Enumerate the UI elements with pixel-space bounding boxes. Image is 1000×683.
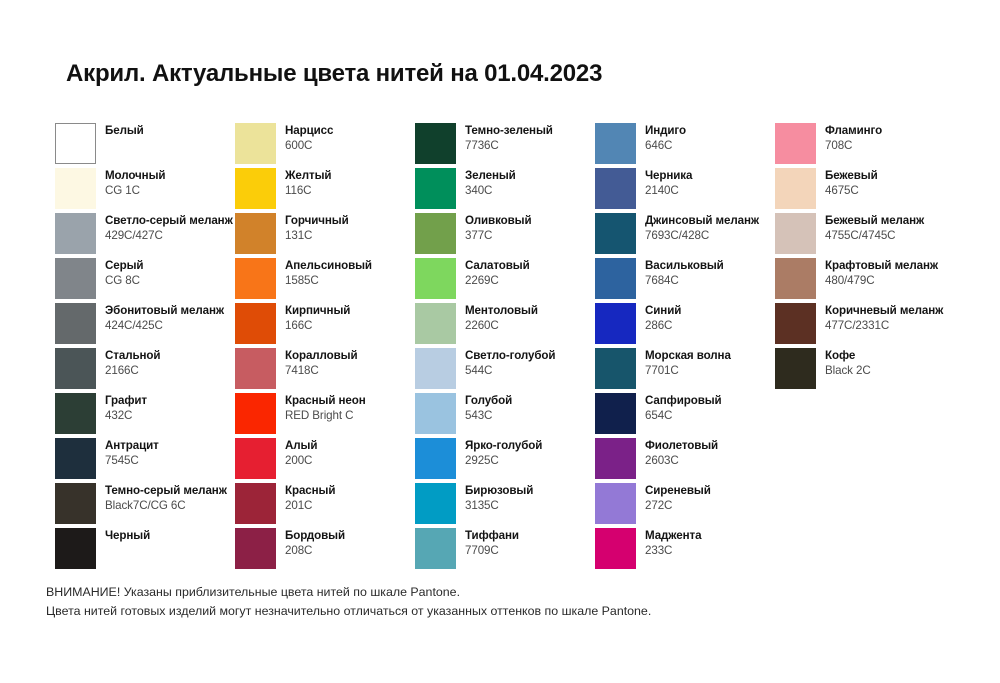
color-name: Сапфировый [645, 394, 722, 409]
color-code: 201C [285, 499, 335, 514]
color-row[interactable]: Белый [55, 123, 235, 168]
color-labels: Зеленый340C [465, 168, 516, 198]
color-labels: Антрацит7545C [105, 438, 159, 468]
color-labels: Бордовый208C [285, 528, 345, 558]
color-swatch[interactable] [415, 303, 456, 344]
color-row[interactable]: Фламинго708C [775, 123, 975, 168]
color-name: Молочный [105, 169, 165, 184]
color-swatch[interactable] [235, 168, 276, 209]
color-row[interactable]: Салатовый2269C [415, 258, 595, 303]
color-chart-page: Акрил. Актуальные цвета нитей на 01.04.2… [0, 0, 1000, 683]
color-labels: Черный [105, 528, 150, 544]
color-code: 340C [465, 184, 516, 199]
color-swatch[interactable] [595, 123, 636, 164]
color-row[interactable]: Кирпичный166C [235, 303, 415, 348]
color-swatch[interactable] [235, 348, 276, 389]
color-swatch[interactable] [235, 393, 276, 434]
color-swatch[interactable] [55, 528, 96, 569]
color-code: 708C [825, 139, 882, 154]
color-code: 477C/2331C [825, 319, 943, 334]
color-labels: Синий286C [645, 303, 681, 333]
color-swatch[interactable] [595, 438, 636, 479]
color-labels: Индиго646C [645, 123, 686, 153]
color-row[interactable]: Маджента233C [595, 528, 775, 573]
color-name: Кофе [825, 349, 871, 364]
color-row[interactable]: Зеленый340C [415, 168, 595, 213]
color-code: 2166C [105, 364, 160, 379]
color-code: 116C [285, 184, 331, 199]
color-name: Васильковый [645, 259, 724, 274]
color-code: 600C [285, 139, 333, 154]
color-swatch[interactable] [415, 348, 456, 389]
color-name: Светло-голубой [465, 349, 555, 364]
color-labels: Горчичный131C [285, 213, 349, 243]
color-row[interactable]: Бирюзовый3135C [415, 483, 595, 528]
color-name: Горчичный [285, 214, 349, 229]
color-row[interactable]: КофеBlack 2C [775, 348, 975, 393]
color-name: Маджента [645, 529, 701, 544]
page-title: Акрил. Актуальные цвета нитей на 01.04.2… [66, 60, 602, 88]
color-name: Коралловый [285, 349, 358, 364]
color-row[interactable]: Бежевый меланж4755C/4745C [775, 213, 975, 258]
color-swatch[interactable] [415, 213, 456, 254]
footer-line-2: Цвета нитей готовых изделий могут незнач… [46, 602, 651, 621]
color-code: 424C/425C [105, 319, 224, 334]
color-code: 131C [285, 229, 349, 244]
color-swatch[interactable] [775, 168, 816, 209]
color-name: Антрацит [105, 439, 159, 454]
color-labels: Тиффани7709C [465, 528, 519, 558]
color-name: Кирпичный [285, 304, 350, 319]
color-name: Индиго [645, 124, 686, 139]
color-labels: Светло-серый меланж429C/427C [105, 213, 233, 243]
color-swatch[interactable] [415, 123, 456, 164]
color-row[interactable]: Сапфировый654C [595, 393, 775, 438]
color-labels: МолочныйCG 1C [105, 168, 165, 198]
color-name: Крафтовый меланж [825, 259, 938, 274]
color-name: Джинсовый меланж [645, 214, 759, 229]
color-name: Нарцисс [285, 124, 333, 139]
color-swatch[interactable] [595, 258, 636, 299]
color-row[interactable]: Черника2140C [595, 168, 775, 213]
color-swatch[interactable] [55, 258, 96, 299]
color-labels: Голубой543C [465, 393, 512, 423]
color-labels: Белый [105, 123, 144, 139]
color-code: 432C [105, 409, 147, 424]
color-code: RED Bright C [285, 409, 366, 424]
color-row[interactable]: Сиреневый272C [595, 483, 775, 528]
color-swatch[interactable] [775, 348, 816, 389]
color-labels: Черника2140C [645, 168, 692, 198]
color-columns: БелыйМолочныйCG 1CСветло-серый меланж429… [55, 123, 975, 573]
color-row[interactable]: Морская волна7701C [595, 348, 775, 393]
color-name: Графит [105, 394, 147, 409]
color-labels: Коралловый7418C [285, 348, 358, 378]
color-labels: Маджента233C [645, 528, 701, 558]
color-row[interactable]: Графит432C [55, 393, 235, 438]
color-swatch[interactable] [595, 213, 636, 254]
color-name: Стальной [105, 349, 160, 364]
color-swatch[interactable] [415, 393, 456, 434]
color-code: 1585C [285, 274, 372, 289]
color-code: 429C/427C [105, 229, 233, 244]
column-blue-violet: Индиго646CЧерника2140CДжинсовый меланж76… [595, 123, 775, 573]
color-swatch[interactable] [55, 393, 96, 434]
color-row[interactable]: Темно-серый меланжBlack7C/CG 6C [55, 483, 235, 528]
color-code: 543C [465, 409, 512, 424]
color-name: Красный неон [285, 394, 366, 409]
color-code: 480/479C [825, 274, 938, 289]
color-row[interactable]: Черный [55, 528, 235, 573]
color-row[interactable]: Ментоловый2260C [415, 303, 595, 348]
color-code: 7693C/428C [645, 229, 759, 244]
color-labels: Красный неонRED Bright C [285, 393, 366, 423]
color-labels: Фламинго708C [825, 123, 882, 153]
color-name: Тиффани [465, 529, 519, 544]
color-swatch[interactable] [235, 438, 276, 479]
color-name: Серый [105, 259, 143, 274]
color-row[interactable]: Индиго646C [595, 123, 775, 168]
color-swatch[interactable] [235, 258, 276, 299]
color-swatch[interactable] [775, 303, 816, 344]
color-name: Апельсиновый [285, 259, 372, 274]
color-swatch[interactable] [235, 303, 276, 344]
color-swatch[interactable] [55, 303, 96, 344]
color-labels: Алый200C [285, 438, 317, 468]
color-code: 2260C [465, 319, 538, 334]
color-swatch[interactable] [595, 168, 636, 209]
color-labels: Желтый116C [285, 168, 331, 198]
color-row[interactable]: Васильковый7684C [595, 258, 775, 303]
color-labels: Фиолетовый2603C [645, 438, 718, 468]
color-name: Сиреневый [645, 484, 711, 499]
color-row[interactable]: Джинсовый меланж7693C/428C [595, 213, 775, 258]
color-labels: СерыйCG 8C [105, 258, 143, 288]
color-code: 272C [645, 499, 711, 514]
color-swatch[interactable] [775, 123, 816, 164]
color-row[interactable]: Алый200C [235, 438, 415, 483]
color-labels: Графит432C [105, 393, 147, 423]
color-name: Оливковый [465, 214, 531, 229]
color-labels: Коричневый меланж477C/2331C [825, 303, 943, 333]
color-code: 286C [645, 319, 681, 334]
color-code: 2925C [465, 454, 542, 469]
color-labels: Васильковый7684C [645, 258, 724, 288]
color-code: 2140C [645, 184, 692, 199]
color-swatch[interactable] [55, 123, 96, 164]
color-swatch[interactable] [595, 348, 636, 389]
color-name: Морская волна [645, 349, 731, 364]
color-swatch[interactable] [415, 483, 456, 524]
color-code: Black7C/CG 6C [105, 499, 227, 514]
color-swatch[interactable] [55, 213, 96, 254]
color-row[interactable]: Голубой543C [415, 393, 595, 438]
color-labels: Ярко-голубой2925C [465, 438, 542, 468]
color-code: 2269C [465, 274, 530, 289]
color-name: Темно-зеленый [465, 124, 553, 139]
color-labels: Стальной2166C [105, 348, 160, 378]
color-name: Эбонитовый меланж [105, 304, 224, 319]
color-name: Бирюзовый [465, 484, 533, 499]
color-name: Белый [105, 124, 144, 139]
color-code: 4675C [825, 184, 878, 199]
color-row[interactable]: Крафтовый меланж480/479C [775, 258, 975, 303]
color-swatch[interactable] [595, 483, 636, 524]
color-code: 7418C [285, 364, 358, 379]
color-code: 7545C [105, 454, 159, 469]
color-code: CG 1C [105, 184, 165, 199]
color-labels: Апельсиновый1585C [285, 258, 372, 288]
color-row[interactable]: Коралловый7418C [235, 348, 415, 393]
color-swatch[interactable] [235, 528, 276, 569]
color-name: Ярко-голубой [465, 439, 542, 454]
color-row[interactable]: Горчичный131C [235, 213, 415, 258]
column-pink-brown: Фламинго708CБежевый4675CБежевый меланж47… [775, 123, 975, 393]
column-green-blue: Темно-зеленый7736CЗеленый340CОливковый37… [415, 123, 595, 573]
footer-notice: ВНИМАНИЕ! Указаны приблизительные цвета … [46, 583, 651, 621]
color-code: 4755C/4745C [825, 229, 924, 244]
color-labels: Оливковый377C [465, 213, 531, 243]
color-swatch[interactable] [775, 258, 816, 299]
color-name: Темно-серый меланж [105, 484, 227, 499]
color-swatch[interactable] [775, 213, 816, 254]
color-swatch[interactable] [595, 528, 636, 569]
color-name: Желтый [285, 169, 331, 184]
color-swatch[interactable] [235, 213, 276, 254]
color-name: Бежевый меланж [825, 214, 924, 229]
color-code: 654C [645, 409, 722, 424]
color-row[interactable]: МолочныйCG 1C [55, 168, 235, 213]
column-warm: Нарцисс600CЖелтый116CГорчичный131CАпельс… [235, 123, 415, 573]
color-row[interactable]: Красный неонRED Bright C [235, 393, 415, 438]
color-swatch[interactable] [55, 348, 96, 389]
color-code: 7709C [465, 544, 519, 559]
color-labels: Кирпичный166C [285, 303, 350, 333]
color-code: 646C [645, 139, 686, 154]
color-row[interactable]: Стальной2166C [55, 348, 235, 393]
color-name: Светло-серый меланж [105, 214, 233, 229]
color-name: Фламинго [825, 124, 882, 139]
color-swatch[interactable] [55, 438, 96, 479]
color-row[interactable]: Фиолетовый2603C [595, 438, 775, 483]
color-swatch[interactable] [595, 393, 636, 434]
color-labels: Бирюзовый3135C [465, 483, 533, 513]
color-code: 2603C [645, 454, 718, 469]
color-code: 233C [645, 544, 701, 559]
color-labels: Сапфировый654C [645, 393, 722, 423]
color-row[interactable]: Апельсиновый1585C [235, 258, 415, 303]
color-code: 208C [285, 544, 345, 559]
color-swatch[interactable] [415, 168, 456, 209]
color-row[interactable]: Бежевый4675C [775, 168, 975, 213]
color-row[interactable]: Нарцисс600C [235, 123, 415, 168]
color-row[interactable]: Эбонитовый меланж424C/425C [55, 303, 235, 348]
color-row[interactable]: Темно-зеленый7736C [415, 123, 595, 168]
color-labels: Темно-серый меланжBlack7C/CG 6C [105, 483, 227, 513]
color-code: 7736C [465, 139, 553, 154]
color-name: Голубой [465, 394, 512, 409]
color-swatch[interactable] [235, 123, 276, 164]
footer-line-1: ВНИМАНИЕ! Указаны приблизительные цвета … [46, 583, 651, 602]
color-code: 200C [285, 454, 317, 469]
color-swatch[interactable] [415, 258, 456, 299]
color-row[interactable]: Тиффани7709C [415, 528, 595, 573]
color-swatch[interactable] [55, 483, 96, 524]
color-name: Красный [285, 484, 335, 499]
color-labels: Салатовый2269C [465, 258, 530, 288]
color-code: 166C [285, 319, 350, 334]
color-labels: Темно-зеленый7736C [465, 123, 553, 153]
color-code: CG 8C [105, 274, 143, 289]
color-swatch[interactable] [595, 303, 636, 344]
color-name: Черника [645, 169, 692, 184]
color-name: Салатовый [465, 259, 530, 274]
color-name: Бордовый [285, 529, 345, 544]
color-row[interactable]: Светло-голубой544C [415, 348, 595, 393]
color-code: 7701C [645, 364, 731, 379]
color-name: Коричневый меланж [825, 304, 943, 319]
color-code: 544C [465, 364, 555, 379]
color-labels: Ментоловый2260C [465, 303, 538, 333]
color-swatch[interactable] [235, 483, 276, 524]
color-swatch[interactable] [55, 168, 96, 209]
color-labels: Эбонитовый меланж424C/425C [105, 303, 224, 333]
color-labels: Светло-голубой544C [465, 348, 555, 378]
color-labels: Крафтовый меланж480/479C [825, 258, 938, 288]
color-name: Синий [645, 304, 681, 319]
color-name: Ментоловый [465, 304, 538, 319]
color-row[interactable]: Бордовый208C [235, 528, 415, 573]
color-swatch[interactable] [415, 438, 456, 479]
color-row[interactable]: Синий286C [595, 303, 775, 348]
color-row[interactable]: Желтый116C [235, 168, 415, 213]
color-name: Фиолетовый [645, 439, 718, 454]
color-code: 377C [465, 229, 531, 244]
color-row[interactable]: Коричневый меланж477C/2331C [775, 303, 975, 348]
color-code: 7684C [645, 274, 724, 289]
color-name: Алый [285, 439, 317, 454]
column-neutrals: БелыйМолочныйCG 1CСветло-серый меланж429… [55, 123, 235, 573]
color-row[interactable]: Оливковый377C [415, 213, 595, 258]
color-name: Зеленый [465, 169, 516, 184]
color-row[interactable]: Антрацит7545C [55, 438, 235, 483]
color-labels: Бежевый4675C [825, 168, 878, 198]
color-row[interactable]: Светло-серый меланж429C/427C [55, 213, 235, 258]
color-labels: Красный201C [285, 483, 335, 513]
color-labels: Бежевый меланж4755C/4745C [825, 213, 924, 243]
color-row[interactable]: СерыйCG 8C [55, 258, 235, 303]
color-code: 3135C [465, 499, 533, 514]
color-row[interactable]: Ярко-голубой2925C [415, 438, 595, 483]
color-labels: Морская волна7701C [645, 348, 731, 378]
color-name: Черный [105, 529, 150, 544]
color-labels: Джинсовый меланж7693C/428C [645, 213, 759, 243]
color-row[interactable]: Красный201C [235, 483, 415, 528]
color-labels: КофеBlack 2C [825, 348, 871, 378]
color-code: Black 2C [825, 364, 871, 379]
color-labels: Нарцисс600C [285, 123, 333, 153]
color-swatch[interactable] [415, 528, 456, 569]
color-labels: Сиреневый272C [645, 483, 711, 513]
color-name: Бежевый [825, 169, 878, 184]
